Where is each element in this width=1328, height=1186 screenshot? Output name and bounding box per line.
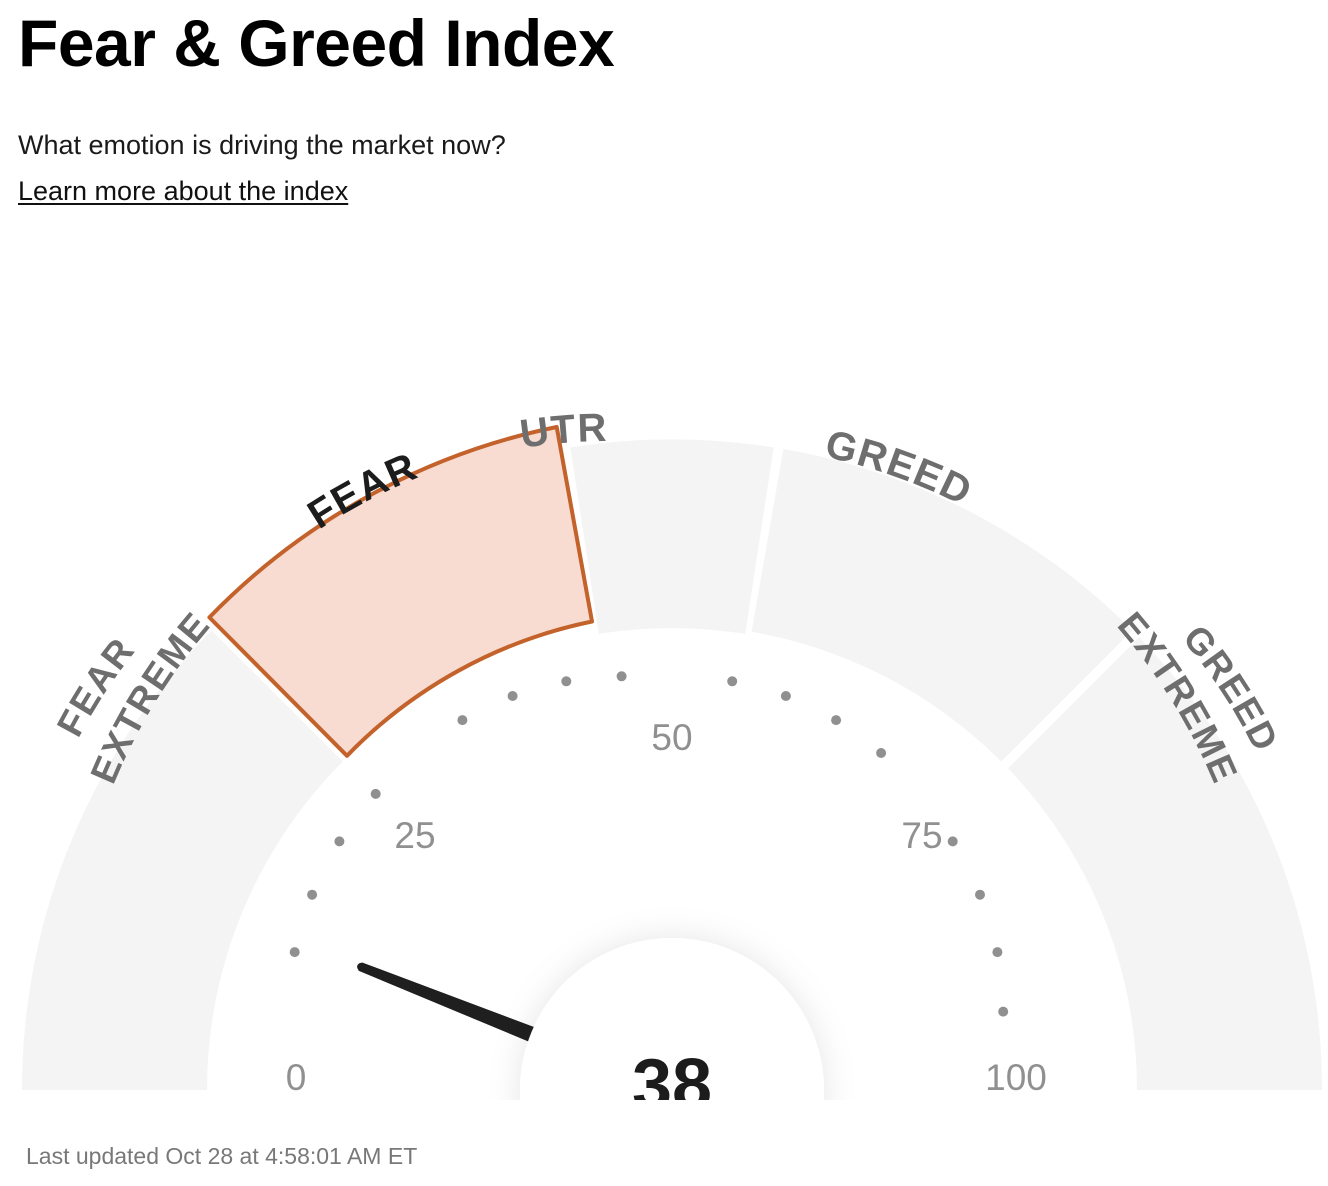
- tick-dot: [876, 748, 886, 758]
- tick-label-0: 0: [286, 1057, 307, 1098]
- page-subtitle: What emotion is driving the market now?: [18, 79, 1308, 163]
- segment-label-neutral: NEUTRAL: [0, 300, 608, 457]
- tick-dot: [781, 691, 791, 701]
- learn-more-link[interactable]: Learn more about the index: [18, 173, 348, 209]
- tick-label-75: 75: [901, 815, 942, 856]
- fear-greed-page: Fear & Greed Index What emotion is drivi…: [0, 0, 1328, 1186]
- tick-dot: [975, 890, 985, 900]
- page-title: Fear & Greed Index: [18, 8, 1308, 79]
- tick-dot: [371, 789, 381, 799]
- fear-greed-gauge: EXTREME FEAR FEAR NEUTRAL GREED EXTREME: [0, 300, 1328, 1100]
- page-header: Fear & Greed Index What emotion is drivi…: [18, 8, 1308, 209]
- tick-dot: [617, 671, 627, 681]
- gauge-value: 38: [632, 1045, 712, 1100]
- tick-dot: [948, 836, 958, 846]
- tick-dot: [307, 890, 317, 900]
- gauge-svg: EXTREME FEAR FEAR NEUTRAL GREED EXTREME: [0, 300, 1328, 1100]
- tick-dot: [998, 1007, 1008, 1017]
- tick-dot: [561, 676, 571, 686]
- last-updated-text: Last updated Oct 28 at 4:58:01 AM ET: [26, 1143, 417, 1170]
- tick-dot: [290, 947, 300, 957]
- tick-dot: [457, 715, 467, 725]
- tick-label-100: 100: [985, 1057, 1047, 1098]
- tick-label-25: 25: [394, 815, 435, 856]
- tick-dot: [992, 947, 1002, 957]
- tick-dot: [831, 715, 841, 725]
- tick-dot: [334, 836, 344, 846]
- tick-dot: [508, 691, 518, 701]
- tick-dot: [727, 676, 737, 686]
- tick-label-50: 50: [651, 717, 692, 758]
- gauge-segment-neutral[interactable]: [570, 439, 773, 634]
